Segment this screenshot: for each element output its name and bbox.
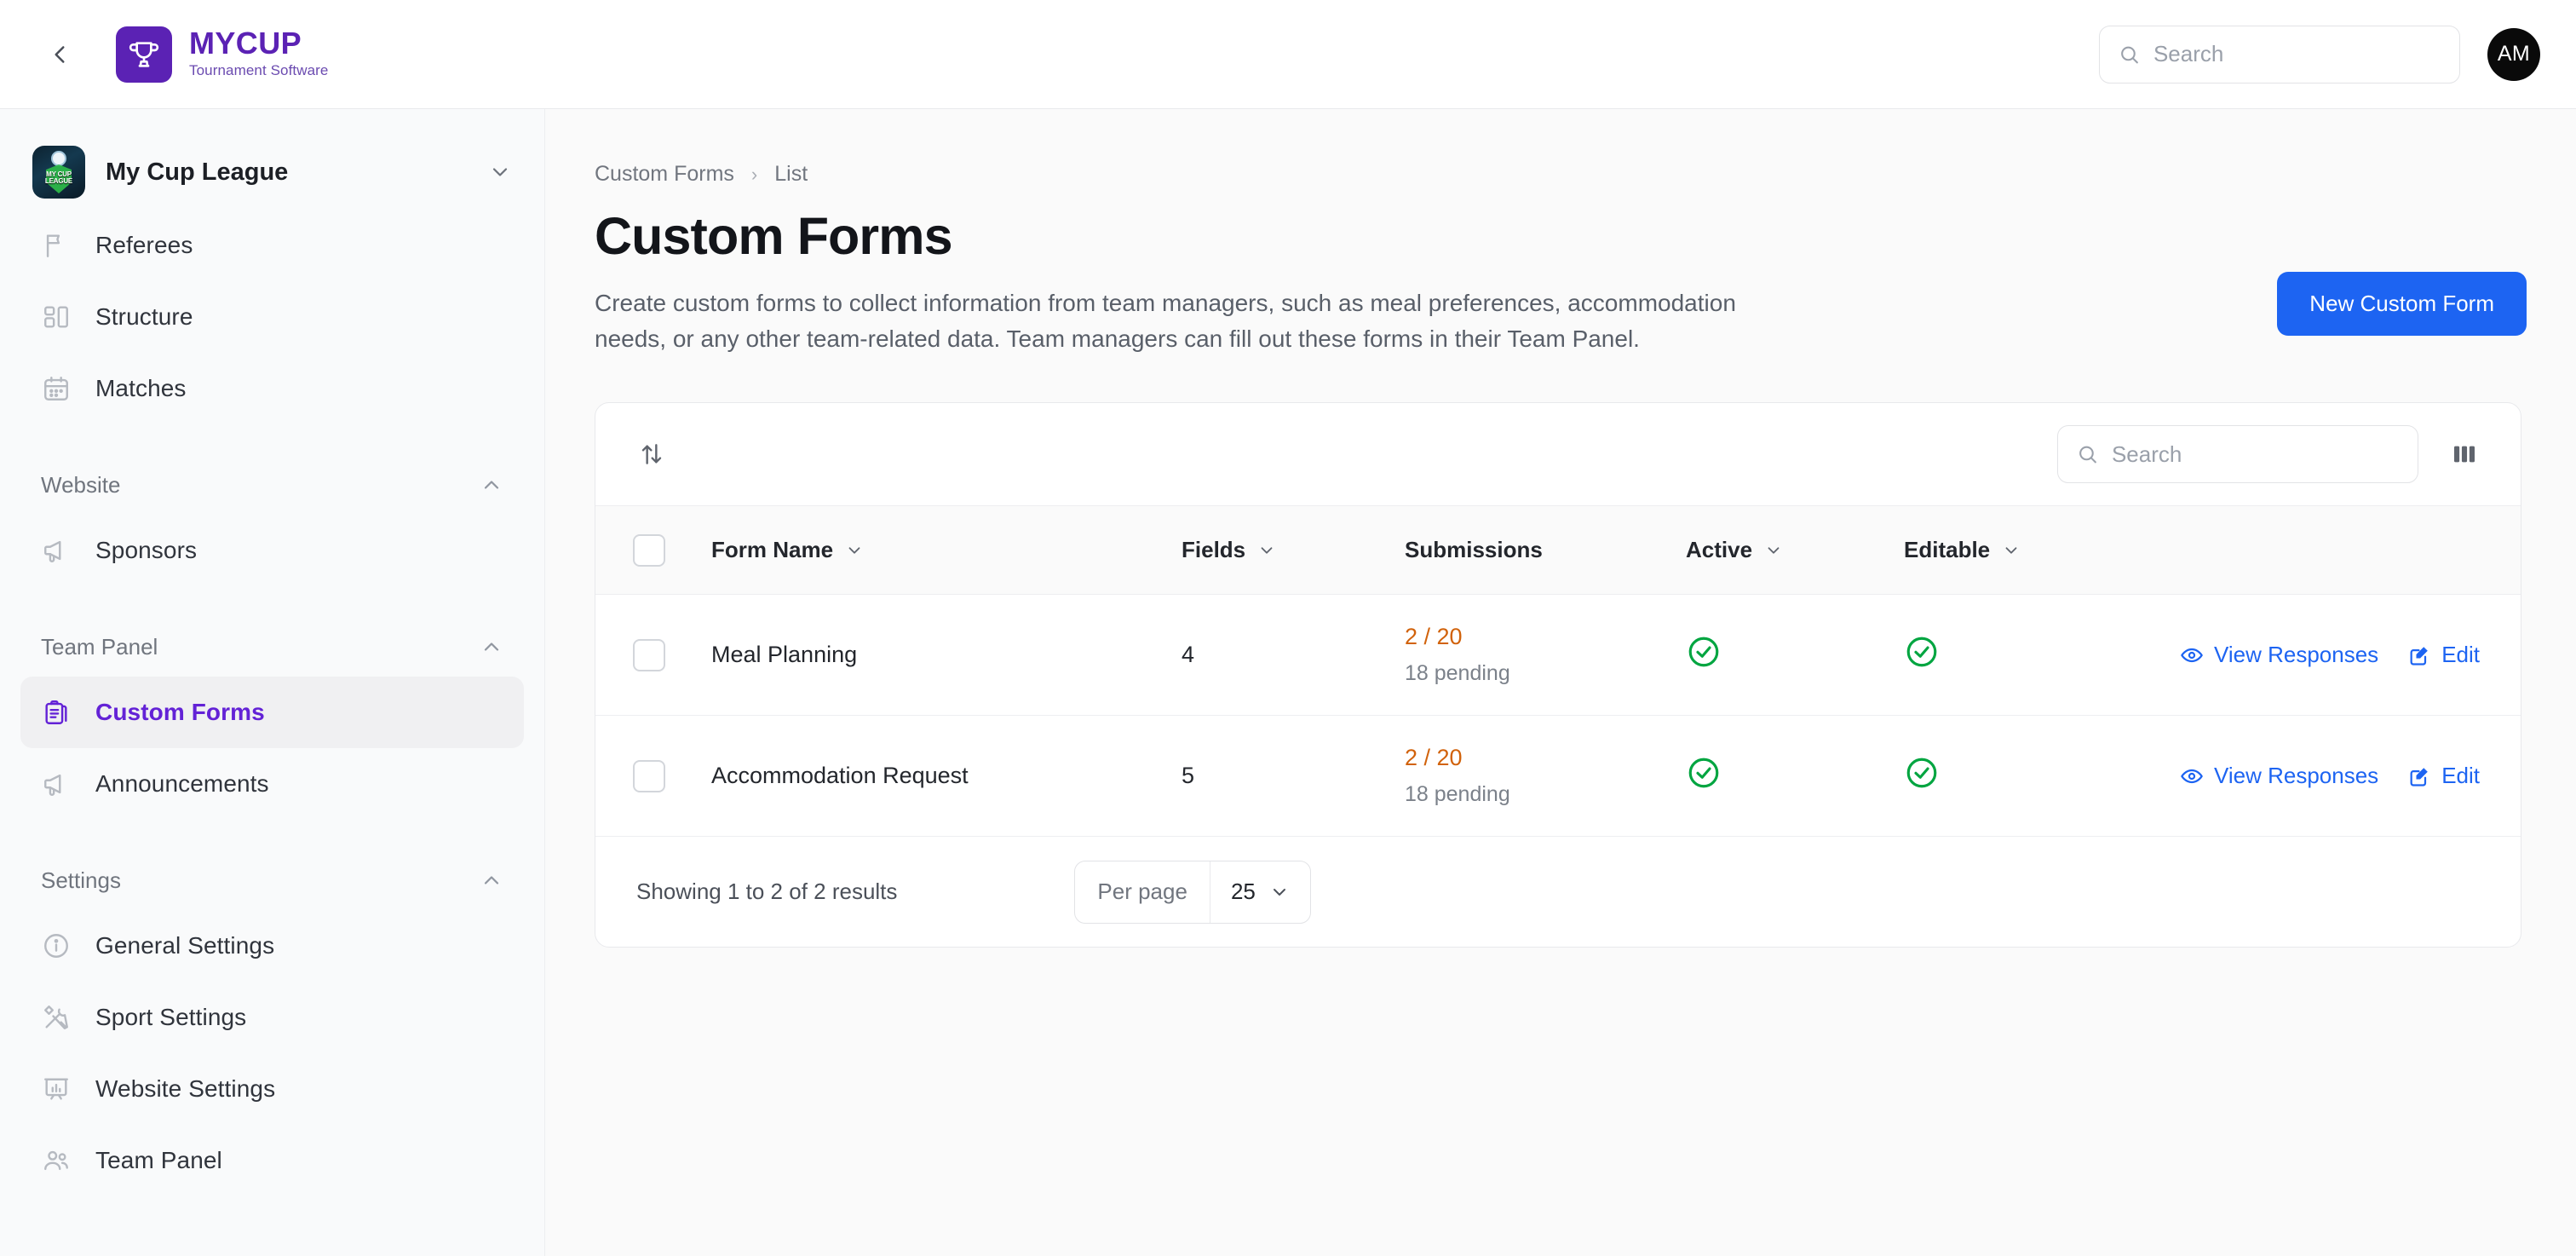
sidebar-item-label: Custom Forms [95, 699, 265, 726]
chevron-left-icon [45, 40, 74, 69]
column-label: Editable [1904, 537, 1990, 563]
sidebar-group-label: Website [41, 472, 480, 498]
edit-pencil-icon [2407, 643, 2431, 667]
cell-fields: 5 [1182, 716, 1405, 837]
top-bar-right: AM [2099, 26, 2540, 84]
submissions-count: 2 / 20 [1405, 624, 1686, 650]
breadcrumb-item-custom-forms[interactable]: Custom Forms [595, 162, 734, 187]
league-switcher[interactable]: MY CUP LEAGUE My Cup League [32, 135, 512, 210]
select-all-checkbox[interactable] [633, 534, 665, 567]
sidebar-item-referees[interactable]: Referees [20, 210, 524, 281]
results-summary: Showing 1 to 2 of 2 results [636, 879, 897, 905]
row-checkbox[interactable] [633, 760, 665, 792]
chevron-down-icon [845, 541, 864, 560]
view-responses-link[interactable]: View Responses [2180, 642, 2378, 668]
chevron-up-icon [480, 635, 503, 659]
chevron-down-icon [1269, 882, 1290, 902]
sidebar-item-label: Team Panel [95, 1147, 222, 1174]
cell-actions: View Responses Edit [2185, 595, 2521, 716]
chart-board-icon [39, 1072, 73, 1106]
layout-blocks-icon [39, 300, 73, 334]
sidebar-group-team-panel[interactable]: Team Panel [41, 617, 503, 677]
brand-subtitle: Tournament Software [189, 61, 328, 80]
sidebar-item-team-panel[interactable]: Team Panel [20, 1125, 524, 1196]
view-responses-link[interactable]: View Responses [2180, 763, 2378, 789]
breadcrumb: Custom Forms › List [595, 162, 2527, 187]
check-circle-icon [1904, 634, 1940, 670]
custom-forms-table: Form Name Fields [595, 505, 2521, 836]
global-search[interactable] [2099, 26, 2460, 84]
sidebar-item-label: Structure [95, 303, 193, 331]
cell-active [1686, 716, 1904, 837]
sidebar-item-label: Matches [95, 375, 187, 402]
edit-link[interactable]: Edit [2407, 763, 2480, 789]
chevron-down-icon [1257, 541, 1276, 560]
sidebar-item-custom-forms[interactable]: Custom Forms [20, 677, 524, 748]
columns-icon[interactable] [2446, 435, 2483, 473]
cell-form-name: Meal Planning [711, 595, 1182, 716]
row-select-cell [595, 595, 711, 716]
sidebar-item-structure[interactable]: Structure [20, 281, 524, 353]
table-header-row: Form Name Fields [595, 506, 2521, 595]
view-responses-label: View Responses [2214, 642, 2378, 668]
row-checkbox[interactable] [633, 639, 665, 671]
cell-active [1686, 595, 1904, 716]
cell-editable [1904, 595, 2185, 716]
search-icon [2119, 43, 2140, 66]
table-row[interactable]: Accommodation Request 5 2 / 20 18 pendin… [595, 716, 2521, 837]
trophy-icon [116, 26, 172, 83]
check-circle-icon [1686, 634, 1722, 670]
clipboard-list-icon [39, 695, 73, 729]
megaphone-icon [39, 767, 73, 801]
breadcrumb-item-list[interactable]: List [774, 162, 808, 187]
table-search-input[interactable] [2112, 441, 2399, 468]
column-header-actions [2185, 506, 2521, 595]
sidebar-item-label: Sport Settings [95, 1004, 246, 1031]
avatar[interactable]: AM [2487, 28, 2540, 81]
top-bar: MYCUP Tournament Software AM [0, 0, 2576, 109]
page-description: Create custom forms to collect informati… [595, 285, 1736, 356]
column-label: Fields [1182, 537, 1245, 563]
search-input[interactable] [2153, 41, 2441, 67]
check-circle-icon [1686, 755, 1722, 791]
sidebar-item-label: Sponsors [95, 537, 197, 564]
sidebar-item-general-settings[interactable]: General Settings [20, 910, 524, 982]
cell-submissions: 2 / 20 18 pending [1405, 595, 1686, 716]
league-name: My Cup League [106, 158, 468, 187]
eye-icon [2180, 764, 2204, 788]
search-icon [2077, 442, 2098, 466]
edit-pencil-icon [2407, 764, 2431, 788]
chevron-up-icon [480, 473, 503, 497]
edit-label: Edit [2441, 763, 2480, 789]
chevron-down-icon [2002, 541, 2021, 560]
sidebar-group-settings[interactable]: Settings [41, 850, 503, 910]
column-header-editable[interactable]: Editable [1904, 506, 2185, 595]
chevron-down-icon[interactable] [488, 160, 512, 184]
column-header-submissions: Submissions [1405, 506, 1686, 595]
column-label: Form Name [711, 537, 833, 563]
info-circle-icon [39, 929, 73, 963]
sidebar-group-label: Team Panel [41, 634, 480, 660]
table-search[interactable] [2057, 425, 2418, 483]
sort-arrows-icon[interactable] [633, 435, 670, 473]
sidebar-group-website[interactable]: Website [41, 455, 503, 515]
column-header-fields[interactable]: Fields [1182, 506, 1405, 595]
eye-icon [2180, 643, 2204, 667]
column-header-form-name[interactable]: Form Name [711, 506, 1182, 595]
calendar-icon [39, 372, 73, 406]
sidebar-group-label: Settings [41, 867, 480, 894]
edit-link[interactable]: Edit [2407, 642, 2480, 668]
sidebar-item-label: Website Settings [95, 1075, 275, 1103]
column-label: Submissions [1405, 537, 1543, 563]
cell-submissions: 2 / 20 18 pending [1405, 716, 1686, 837]
cell-actions: View Responses Edit [2185, 716, 2521, 837]
cell-editable [1904, 716, 2185, 837]
per-page-select[interactable]: 25 [1210, 861, 1310, 923]
back-button[interactable] [36, 31, 83, 78]
table-row[interactable]: Meal Planning 4 2 / 20 18 pending [595, 595, 2521, 716]
view-responses-label: View Responses [2214, 763, 2378, 789]
check-circle-icon [1904, 755, 1940, 791]
league-logo-icon: MY CUP LEAGUE [32, 146, 85, 199]
sidebar: MY CUP LEAGUE My Cup League Referees Str… [0, 109, 545, 1256]
chevron-up-icon [480, 868, 503, 892]
sidebar-item-label: General Settings [95, 932, 274, 959]
sidebar-item-label: Announcements [95, 770, 269, 798]
table-body: Meal Planning 4 2 / 20 18 pending [595, 595, 2521, 837]
select-all-header [595, 506, 711, 595]
submissions-pending: 18 pending [1405, 661, 1686, 686]
custom-forms-table-card: Form Name Fields [595, 402, 2521, 948]
sidebar-item-announcements[interactable]: Announcements [20, 748, 524, 820]
league-logo-text: MY CUP LEAGUE [32, 171, 85, 185]
row-select-cell [595, 716, 711, 837]
edit-label: Edit [2441, 642, 2480, 668]
page-title: Custom Forms [595, 209, 1753, 265]
sidebar-item-label: Referees [95, 232, 193, 259]
brand-logo[interactable]: MYCUP Tournament Software [116, 26, 328, 83]
submissions-pending: 18 pending [1405, 782, 1686, 807]
table-toolbar [595, 403, 2521, 505]
sidebar-item-matches[interactable]: Matches [20, 353, 524, 424]
new-custom-form-button[interactable]: New Custom Form [2277, 272, 2527, 336]
per-page-control[interactable]: Per page 25 [1074, 861, 1310, 924]
cell-fields: 4 [1182, 595, 1405, 716]
sidebar-item-sponsors[interactable]: Sponsors [20, 515, 524, 586]
main-content: Custom Forms › List Custom Forms Create … [545, 109, 2576, 1256]
flag-icon [39, 228, 73, 262]
brand-title: MYCUP [189, 28, 328, 60]
per-page-value: 25 [1231, 879, 1256, 905]
tools-icon [39, 1000, 73, 1034]
column-header-active[interactable]: Active [1686, 506, 1904, 595]
column-label: Active [1686, 537, 1752, 563]
page-header: Custom Forms Create custom forms to coll… [595, 209, 2527, 356]
chevron-down-icon [1764, 541, 1783, 560]
per-page-label: Per page [1075, 861, 1210, 923]
cell-form-name: Accommodation Request [711, 716, 1182, 837]
users-icon [39, 1144, 73, 1178]
table-footer: Showing 1 to 2 of 2 results Per page 25 [595, 836, 2521, 947]
table-head: Form Name Fields [595, 506, 2521, 595]
sidebar-item-website-settings[interactable]: Website Settings [20, 1053, 524, 1125]
megaphone-icon [39, 533, 73, 568]
submissions-count: 2 / 20 [1405, 745, 1686, 771]
breadcrumb-separator-icon: › [751, 164, 757, 186]
sidebar-item-sport-settings[interactable]: Sport Settings [20, 982, 524, 1053]
